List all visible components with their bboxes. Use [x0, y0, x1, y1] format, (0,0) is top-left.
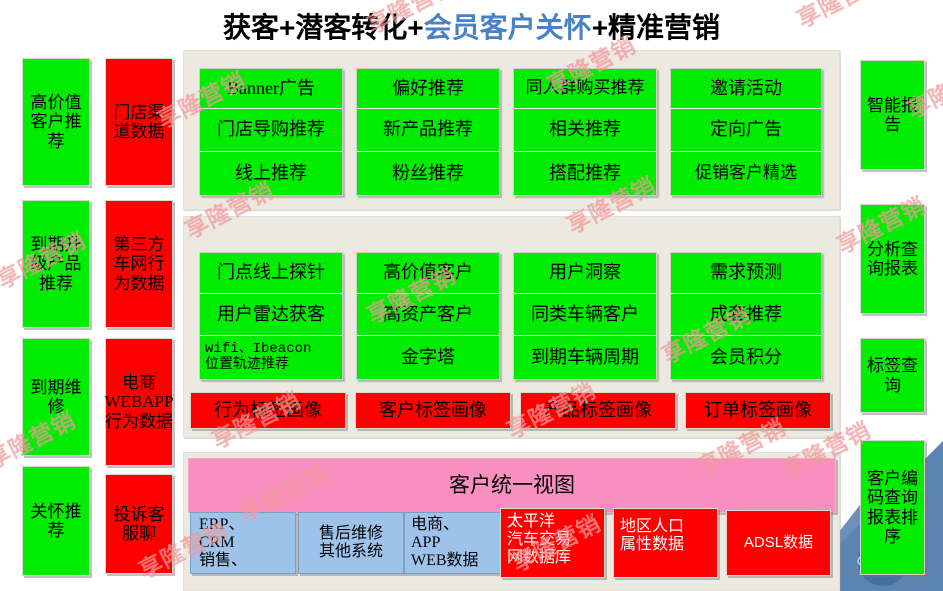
- right-green-2[interactable]: 标签查询: [860, 338, 925, 413]
- cell-top-0-2[interactable]: 线上推荐: [200, 152, 342, 195]
- cell-top-0-0[interactable]: Banner广告: [200, 69, 342, 109]
- left-red-0-label: 门店渠道数据: [106, 103, 172, 141]
- left-green-2[interactable]: 到期维修: [22, 338, 90, 456]
- cell-top-1-1[interactable]: 新产品推荐: [357, 109, 499, 152]
- left-red-3[interactable]: 投诉客服聊: [105, 474, 173, 574]
- cell-mid-3-0[interactable]: 需求预测: [671, 253, 821, 294]
- right-green-3[interactable]: 客户编码查询报表排序: [860, 440, 925, 575]
- middle-cluster-3: 需求预测 成套推荐 会员积分: [670, 252, 822, 380]
- unified-view-bar[interactable]: 客户统一视图: [188, 458, 836, 513]
- data-source-0[interactable]: ERP、 CRM 销售、: [190, 512, 296, 574]
- cell-top-3-1[interactable]: 定向广告: [671, 109, 821, 152]
- cell-mid-0-2[interactable]: wifi、Ibeacon 位置轨迹推荐: [200, 336, 342, 379]
- left-red-2[interactable]: 电商WEBAPP行为数据: [105, 338, 173, 466]
- tag-box-2-label: 产品标签画像: [544, 400, 652, 420]
- cell-mid-0-0[interactable]: 门点线上探针: [200, 253, 342, 294]
- data-source-5[interactable]: ADSL数据: [726, 510, 831, 576]
- data-source-4[interactable]: 地区人口 属性数据: [613, 508, 718, 578]
- data-source-1[interactable]: 售后维修 其他系统: [298, 512, 404, 574]
- cell-top-0-1[interactable]: 门店导购推荐: [200, 109, 342, 152]
- tag-box-0-label: 行为标签画像: [214, 400, 322, 420]
- middle-cluster-0: 门点线上探针 用户雷达获客 wifi、Ibeacon 位置轨迹推荐: [199, 252, 343, 380]
- cell-top-1-2[interactable]: 粉丝推荐: [357, 152, 499, 195]
- right-green-3-label: 客户编码查询报表排序: [861, 469, 924, 545]
- left-red-0[interactable]: 门店渠道数据: [105, 58, 173, 186]
- cell-mid-1-0[interactable]: 高价值客户: [357, 253, 499, 294]
- cell-mid-2-2[interactable]: 到期车辆周期: [514, 336, 656, 379]
- cell-mid-3-2[interactable]: 会员积分: [671, 336, 821, 379]
- tag-box-1-label: 客户标签画像: [379, 400, 487, 420]
- left-red-1-label: 第三方车网行为数据: [106, 235, 172, 292]
- data-source-3[interactable]: 太平洋 汽车交易 网数据库: [500, 508, 605, 578]
- cell-mid-2-1[interactable]: 同类车辆客户: [514, 294, 656, 336]
- left-red-2-label: 电商WEBAPP行为数据: [105, 373, 174, 430]
- tag-box-0[interactable]: 行为标签画像: [190, 392, 346, 429]
- cell-mid-2-0[interactable]: 用户洞察: [514, 253, 656, 294]
- left-green-1-label: 到期升级产品推荐: [23, 235, 89, 292]
- middle-cluster-2: 用户洞察 同类车辆客户 到期车辆周期: [513, 252, 657, 380]
- cell-mid-1-2[interactable]: 金字塔: [357, 336, 499, 379]
- left-green-3-label: 关怀推荐: [23, 502, 89, 540]
- cell-mid-0-1[interactable]: 用户雷达获客: [200, 294, 342, 336]
- left-red-1[interactable]: 第三方车网行为数据: [105, 200, 173, 328]
- right-green-1-label: 分析查询报表: [861, 240, 924, 278]
- tag-box-2[interactable]: 产品标签画像: [520, 392, 676, 429]
- tag-box-1[interactable]: 客户标签画像: [355, 392, 511, 429]
- top-cluster-0: Banner广告 门店导购推荐 线上推荐: [199, 68, 343, 196]
- middle-cluster-1: 高价值客户 高资产客户 金字塔: [356, 252, 500, 380]
- cell-top-2-1[interactable]: 相关推荐: [514, 109, 656, 152]
- cell-mid-3-1[interactable]: 成套推荐: [671, 294, 821, 336]
- left-green-2-label: 到期维修: [23, 378, 89, 416]
- left-green-1[interactable]: 到期升级产品推荐: [22, 200, 90, 328]
- title-part2: +精准营销: [592, 12, 720, 43]
- left-green-3[interactable]: 关怀推荐: [22, 466, 90, 576]
- slide-canvas: BIG N 高 获客+潜客转化+会员客户关怀+精准营销 高价值客户推荐 到期升级…: [0, 0, 943, 591]
- right-green-0-label: 智能报告: [861, 96, 924, 134]
- title-part1: 获客+潜客转化+: [223, 12, 424, 43]
- right-green-2-label: 标签查询: [861, 356, 924, 394]
- tag-box-3-label: 订单标签画像: [704, 400, 812, 420]
- title-highlight: 会员客户关怀: [424, 12, 592, 43]
- right-green-1[interactable]: 分析查询报表: [860, 204, 925, 314]
- left-red-3-label: 投诉客服聊: [106, 505, 172, 543]
- top-cluster-2: 同人群购买推荐 相关推荐 搭配推荐: [513, 68, 657, 196]
- data-source-4-label: 地区人口 属性数据: [620, 518, 684, 554]
- data-source-2[interactable]: 电商、 APP WEB数据: [404, 512, 505, 574]
- cell-top-3-2[interactable]: 促销客户精选: [671, 152, 821, 195]
- cell-top-2-2[interactable]: 搭配推荐: [514, 152, 656, 195]
- page-title: 获客+潜客转化+会员客户关怀+精准营销: [0, 6, 943, 46]
- cell-top-2-0[interactable]: 同人群购买推荐: [514, 69, 656, 109]
- cell-mid-1-1[interactable]: 高资产客户: [357, 294, 499, 336]
- right-green-0[interactable]: 智能报告: [860, 60, 925, 170]
- top-cluster-1: 偏好推荐 新产品推荐 粉丝推荐: [356, 68, 500, 196]
- unified-view-label: 客户统一视图: [449, 474, 575, 498]
- data-source-5-label: ADSL数据: [744, 535, 813, 552]
- left-green-0-label: 高价值客户推荐: [23, 93, 89, 150]
- data-source-0-label: ERP、 CRM 销售、: [199, 516, 247, 570]
- left-green-0[interactable]: 高价值客户推荐: [22, 58, 90, 186]
- top-cluster-3: 邀请活动 定向广告 促销客户精选: [670, 68, 822, 196]
- tag-box-3[interactable]: 订单标签画像: [685, 392, 831, 429]
- data-source-1-label: 售后维修 其他系统: [319, 525, 383, 561]
- cell-top-1-0[interactable]: 偏好推荐: [357, 69, 499, 109]
- data-source-3-label: 太平洋 汽车交易 网数据库: [507, 513, 571, 567]
- cell-top-3-0[interactable]: 邀请活动: [671, 69, 821, 109]
- data-source-2-label: 电商、 APP WEB数据: [411, 516, 479, 570]
